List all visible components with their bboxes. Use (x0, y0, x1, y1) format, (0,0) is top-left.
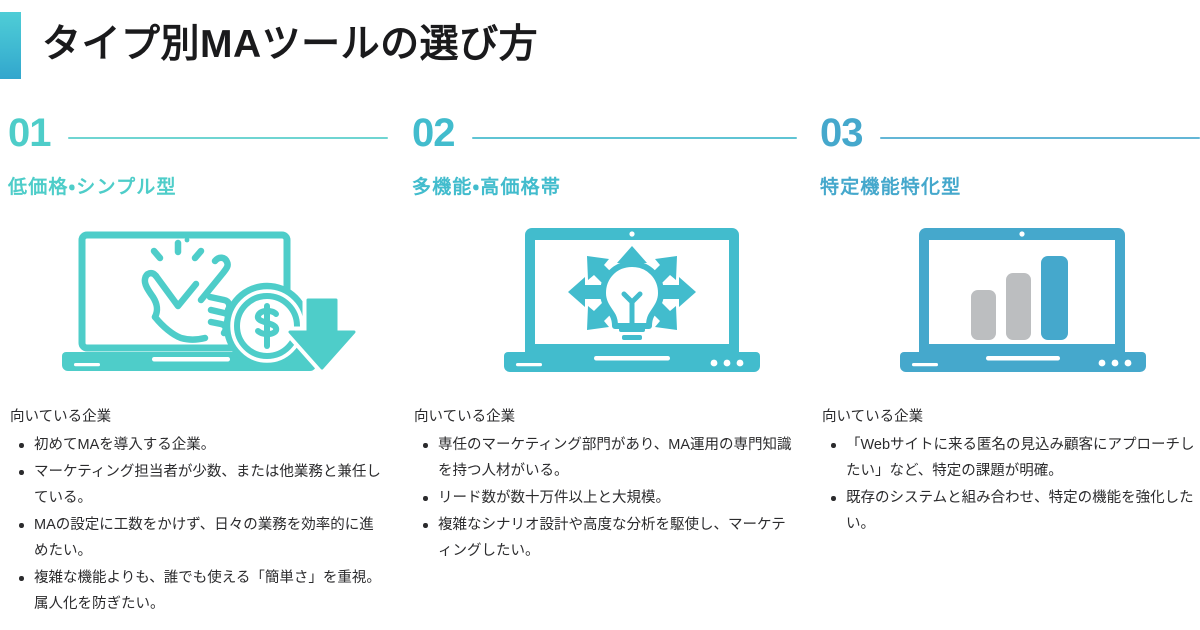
column-header-03: 03 (820, 110, 1200, 162)
column-heading-03: 特定機能特化型 (820, 172, 961, 199)
list-item: リード数が数十万件以上と大規模。 (436, 485, 792, 511)
list-item: MAの設定に工数をかけず、日々の業務を効率的に進めたい。 (32, 512, 388, 564)
title-accent-bar (0, 12, 21, 79)
column-heading-01: 低価格・シンプル型 (8, 172, 177, 199)
column-number-01: 01 (8, 110, 51, 156)
column-body-01: 向いている企業 初めてMAを導入する企業。 マーケティング担当者が少数、または他… (10, 406, 388, 618)
type-column-01: 01 低価格・シンプル型 (8, 110, 393, 162)
list-item: 既存のシステムと組み合わせ、特定の機能を強化したい。 (844, 485, 1200, 537)
laptop-lightbulb-arrows-icon (502, 218, 762, 388)
column-heading-02: 多機能・高価格帯 (412, 172, 561, 199)
column-body-03: 向いている企業 「Webサイトに来る匿名の見込み顧客にアプローチしたい」など、特… (822, 406, 1200, 538)
type-column-02: 02 多機能・高価格帯 (412, 110, 797, 162)
laptop-bar-chart-icon (898, 218, 1148, 388)
bullet-list-01: 初めてMAを導入する企業。 マーケティング担当者が少数、または他業務と兼任してい… (10, 432, 388, 617)
list-item: 複雑なシナリオ設計や高度な分析を駆使し、マーケティングしたい。 (436, 512, 792, 564)
bullet-list-03: 「Webサイトに来る匿名の見込み顧客にアプローチしたい」など、特定の課題が明確。… (822, 432, 1200, 537)
column-rule-01 (68, 137, 388, 139)
list-item: 「Webサイトに来る匿名の見込み顧客にアプローチしたい」など、特定の課題が明確。 (844, 432, 1200, 484)
column-number-03: 03 (820, 110, 863, 156)
type-column-03: 03 特定機能特化型 向いている企業 (820, 110, 1200, 162)
suited-label-02: 向いている企業 (414, 406, 792, 428)
laptop-click-cost-down-icon (60, 218, 380, 388)
column-rule-02 (472, 137, 797, 139)
suited-label-01: 向いている企業 (10, 406, 388, 428)
page-header: タイプ別MAツールの選び方 (0, 0, 1200, 92)
column-body-02: 向いている企業 専任のマーケティング部門があり、MA運用の専門知識を持つ人材がい… (414, 406, 792, 565)
suited-label-03: 向いている企業 (822, 406, 1200, 428)
type-columns: 01 低価格・シンプル型 (0, 110, 1200, 630)
list-item: 初めてMAを導入する企業。 (32, 432, 388, 458)
list-item: 複雑な機能よりも、誰でも使える「簡単さ」を重視。属人化を防ぎたい。 (32, 565, 388, 617)
column-number-02: 02 (412, 110, 455, 156)
list-item: マーケティング担当者が少数、または他業務と兼任している。 (32, 459, 388, 511)
bullet-list-02: 専任のマーケティング部門があり、MA運用の専門知識を持つ人材がいる。 リード数が… (414, 432, 792, 564)
column-header-02: 02 (412, 110, 797, 162)
column-header-01: 01 (8, 110, 393, 162)
list-item: 専任のマーケティング部門があり、MA運用の専門知識を持つ人材がいる。 (436, 432, 792, 484)
page-title: タイプ別MAツールの選び方 (42, 10, 538, 80)
column-rule-03 (880, 137, 1200, 139)
